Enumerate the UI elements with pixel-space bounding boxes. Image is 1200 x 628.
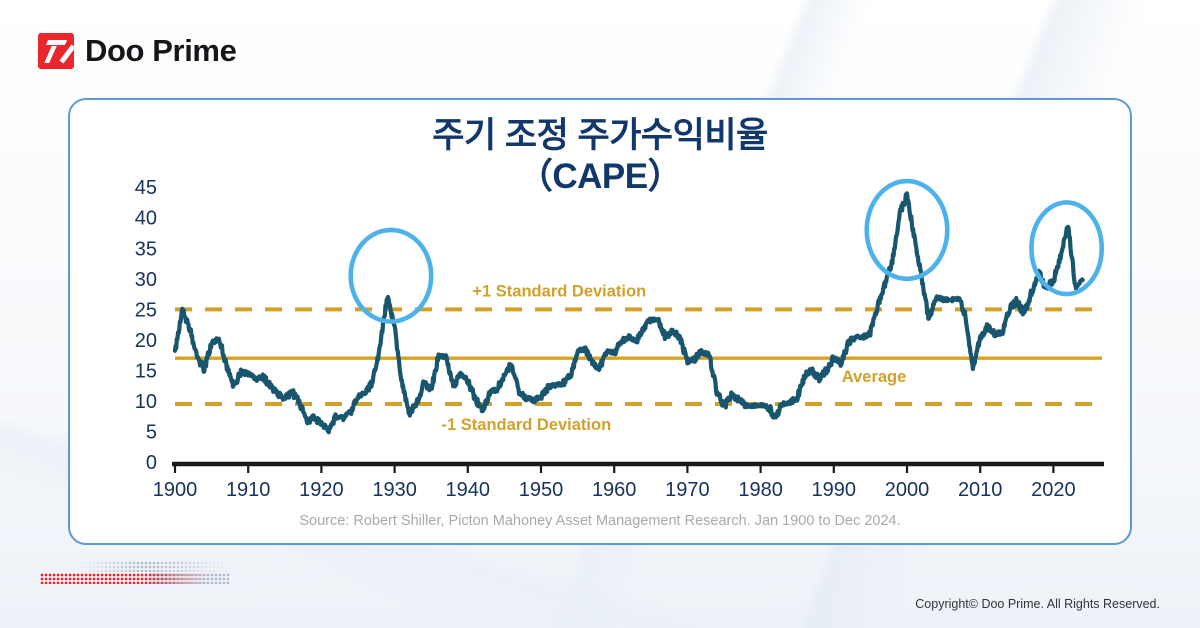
minus-one-std-dev-label: -1 Standard Deviation: [442, 416, 612, 434]
decorative-halftone: [18, 560, 233, 590]
x-tick-1900: 1900: [153, 479, 198, 501]
halftone-grey-bar-top: [76, 561, 231, 572]
x-tick-1950: 1950: [519, 479, 564, 501]
halftone-grey-bar-bottom: [150, 573, 230, 584]
x-axis-tick-labels: 1900191019201930194019501960197019801990…: [153, 464, 1076, 501]
y-tick-35: 35: [135, 238, 157, 260]
chart-plot-area: 051015202530354045 190019101920193019401…: [70, 100, 1134, 547]
x-tick-2000: 2000: [885, 479, 930, 501]
doo-prime-mark-icon: [38, 33, 74, 69]
y-tick-5: 5: [146, 421, 157, 443]
x-tick-1940: 1940: [446, 479, 491, 501]
x-tick-2010: 2010: [958, 479, 1003, 501]
average-label: Average: [842, 368, 907, 386]
y-tick-40: 40: [135, 208, 157, 230]
cape-line-chart: 051015202530354045 190019101920193019401…: [70, 100, 1134, 547]
copyright-text: Copyright© Doo Prime. All Rights Reserve…: [915, 597, 1160, 611]
x-tick-1960: 1960: [592, 479, 637, 501]
y-tick-20: 20: [135, 330, 157, 352]
x-tick-1920: 1920: [299, 479, 344, 501]
y-tick-10: 10: [135, 391, 157, 413]
y-tick-0: 0: [146, 452, 157, 474]
x-tick-1980: 1980: [738, 479, 783, 501]
y-tick-25: 25: [135, 299, 157, 321]
x-tick-1910: 1910: [226, 479, 271, 501]
plus-one-std-dev-label: +1 Standard Deviation: [472, 282, 646, 300]
2021-2024-peak-circle: [1031, 202, 1101, 294]
y-tick-30: 30: [135, 269, 157, 291]
chart-card: 주기 조정 주가수익비율 （CAPE） 051015202530354045 1…: [68, 98, 1132, 545]
x-tick-1990: 1990: [812, 479, 857, 501]
source-note: Source: Robert Shiller, Picton Mahoney A…: [70, 513, 1130, 529]
y-tick-45: 45: [135, 177, 157, 199]
x-tick-1970: 1970: [665, 479, 710, 501]
reference-lines: [175, 309, 1102, 404]
x-tick-1930: 1930: [372, 479, 417, 501]
logo-slash-shape: [59, 45, 74, 64]
brand-logo-text: Doo Prime: [85, 33, 236, 69]
y-tick-15: 15: [135, 360, 157, 382]
highlight-circles: [351, 181, 1102, 321]
brand-logo: Doo Prime: [38, 33, 236, 69]
x-tick-2020: 2020: [1031, 479, 1076, 501]
y-axis-tick-labels: 051015202530354045: [135, 177, 157, 474]
